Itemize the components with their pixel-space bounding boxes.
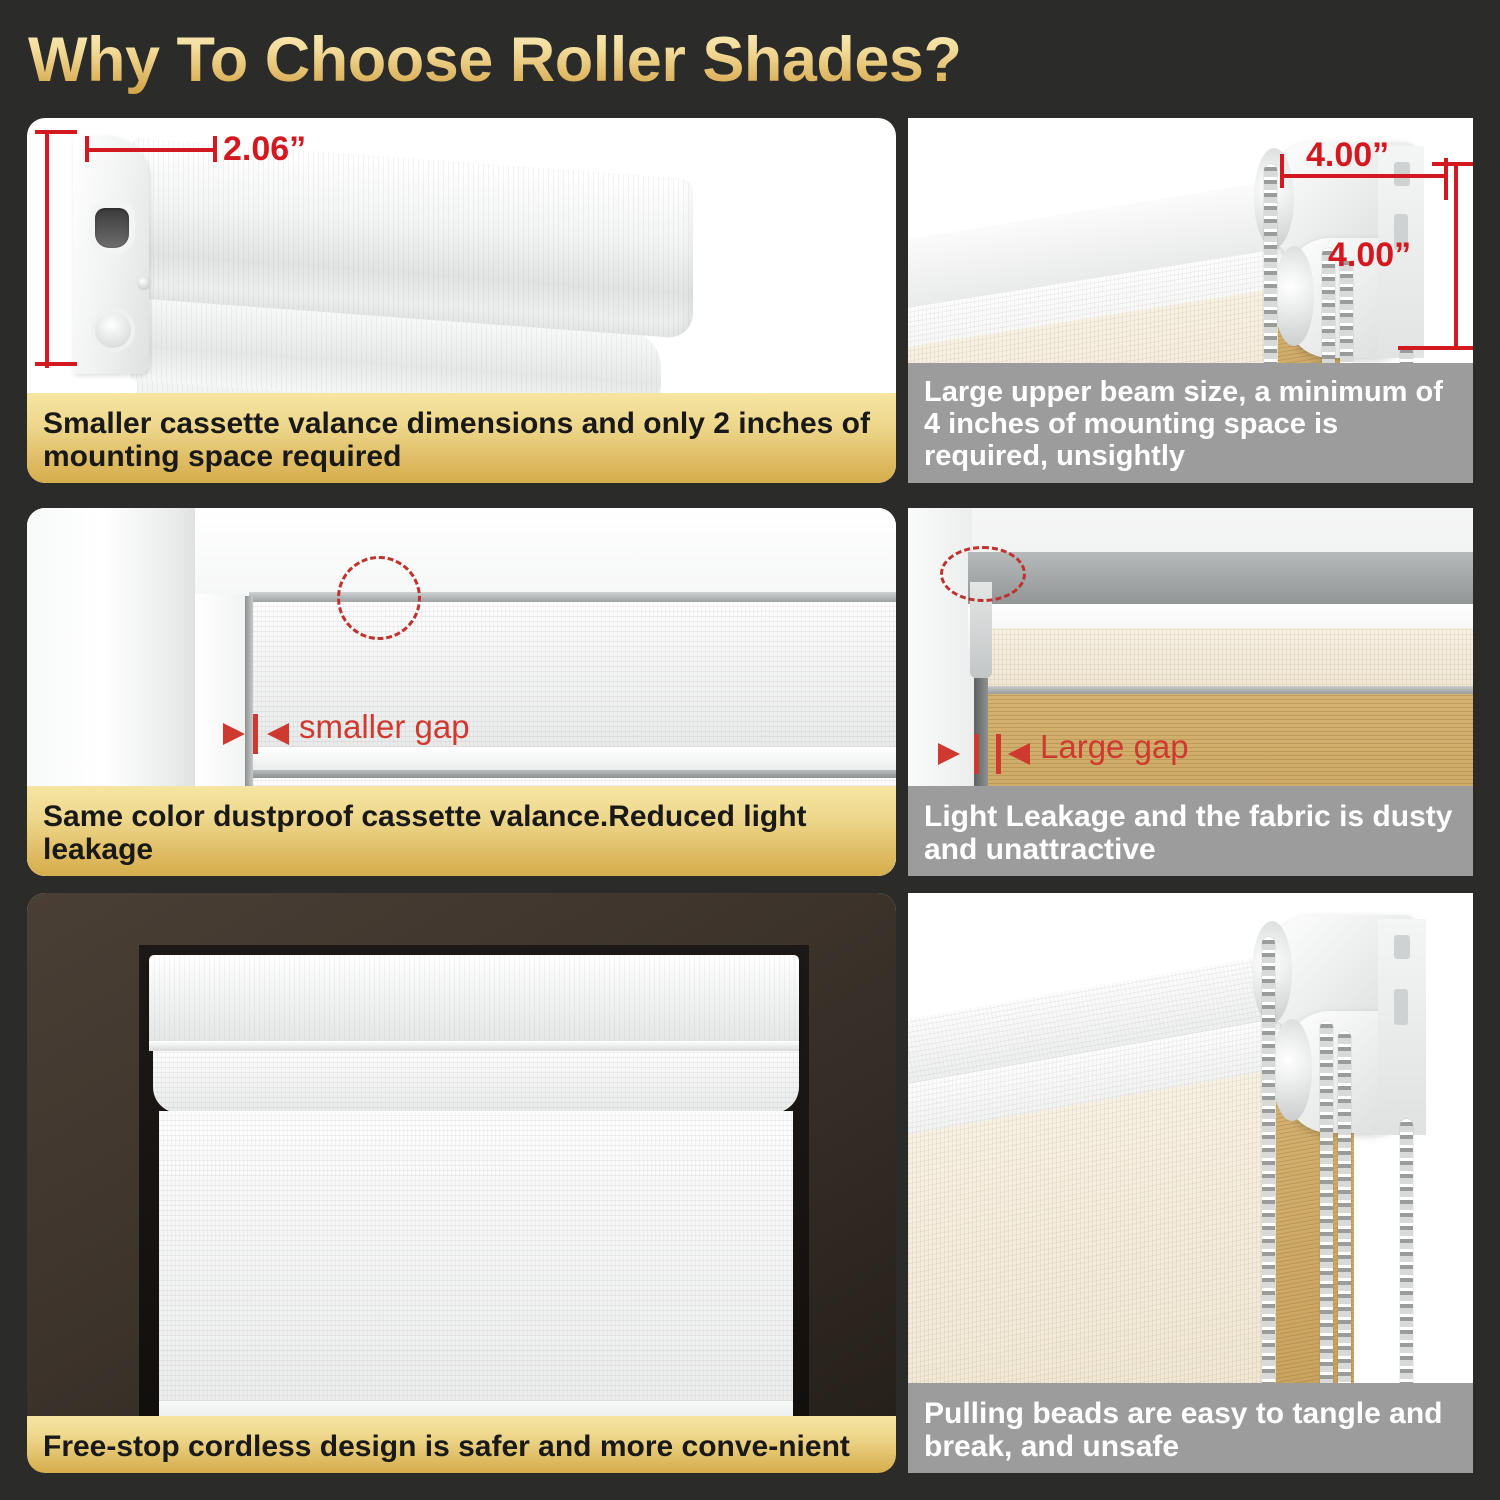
dimension-label-beam-height: 4.00” <box>1328 236 1411 275</box>
dim-tick-h2 <box>35 362 77 366</box>
cordless-window-photo <box>27 893 896 1473</box>
panel-top-right: 4.00” 4.00” Large upper beam size, a min… <box>908 118 1473 483</box>
dimension-label-width: 2.06” <box>223 130 306 169</box>
panel-top-left: 2.06” 5.49” Smaller cassette valance dim… <box>27 118 896 483</box>
panel-bottom-right: Pulling beads are easy to tangle and bre… <box>908 893 1473 1473</box>
dim-tick-bh1 <box>1432 162 1473 166</box>
caption-text: Pulling beads are easy to tangle and bre… <box>924 1397 1457 1463</box>
caption-bottom-right: Pulling beads are easy to tangle and bre… <box>908 1383 1473 1473</box>
caption-top-right: Large upper beam size, a minimum of 4 in… <box>908 363 1473 483</box>
dim-tick-w1 <box>85 136 89 162</box>
caption-text: Free-stop cordless design is safer and m… <box>43 1430 880 1463</box>
bead-chain-4 <box>1400 1119 1413 1399</box>
dim-tick-bw1 <box>1280 154 1284 188</box>
caption-text: Large upper beam size, a minimum of 4 in… <box>924 377 1457 473</box>
gap-label-large: Large gap <box>1040 728 1189 766</box>
dim-line-beam-height <box>1454 162 1458 348</box>
caption-bottom-left: Free-stop cordless design is safer and m… <box>27 1416 896 1473</box>
header: Why To Choose Roller Shades? <box>28 16 1468 104</box>
bead-chain-2 <box>1320 1021 1333 1399</box>
caption-top-left: Smaller cassette valance dimensions and … <box>27 393 896 483</box>
caption-text: Light Leakage and the fabric is dusty an… <box>924 800 1457 866</box>
dim-tick-bh2 <box>1398 346 1473 350</box>
gap-label-smaller: smaller gap <box>299 708 470 746</box>
caption-text: Smaller cassette valance dimensions and … <box>43 407 880 473</box>
dim-line-width <box>87 148 217 152</box>
panel-bottom-left: Free-stop cordless design is safer and m… <box>27 893 896 1473</box>
highlight-circle-icon <box>337 556 421 640</box>
panel-mid-right: Large gap Light Leakage and the fabric i… <box>908 508 1473 876</box>
caption-mid-left: Same color dustproof cassette valance.Re… <box>27 786 896 876</box>
dim-tick-h1 <box>35 130 77 134</box>
page-title: Why To Choose Roller Shades? <box>28 16 1468 104</box>
bead-chain-1 <box>1262 937 1275 1399</box>
panel-mid-left: smaller gap Same color dustproof cassett… <box>27 508 896 876</box>
caption-text: Same color dustproof cassette valance.Re… <box>43 800 880 866</box>
highlight-circle-icon <box>940 546 1026 602</box>
dim-line-height <box>45 130 49 368</box>
bead-chain-3 <box>1338 1031 1351 1399</box>
dimension-label-beam-width: 4.00” <box>1306 136 1389 175</box>
caption-mid-right: Light Leakage and the fabric is dusty an… <box>908 786 1473 876</box>
dim-tick-w2 <box>213 136 217 162</box>
